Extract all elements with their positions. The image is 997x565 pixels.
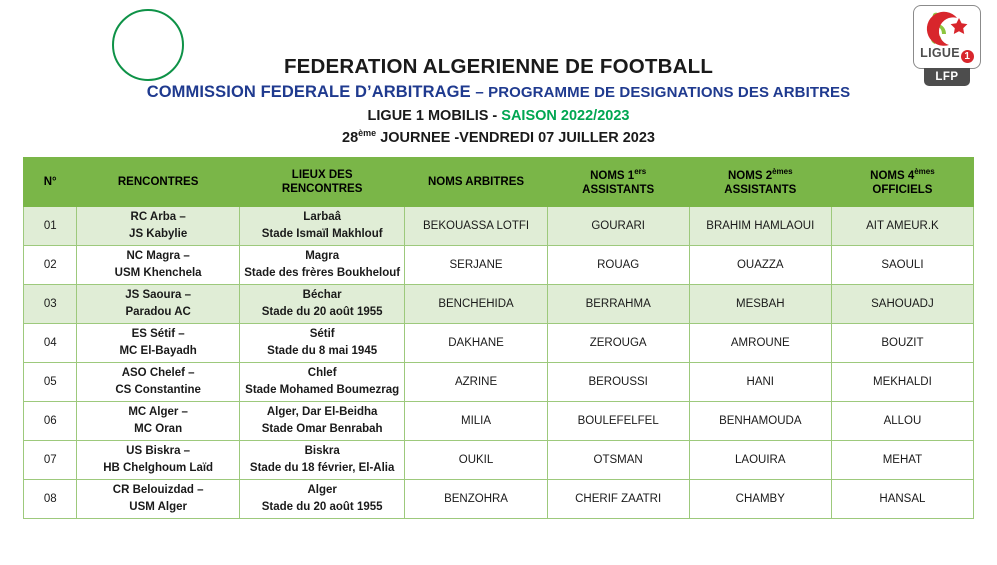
title-block: FEDERATION ALGERIENNE DE FOOTBALL COMMIS… [0,54,997,150]
table-row: 05ASO Chelef –CS ConstantineChlefStade M… [24,363,974,402]
table-header-row: N° RENCONTRES LIEUX DES RENCONTRES NOMS … [24,158,974,207]
cell-venue: MagraStade des frères Boukhelouf [239,246,405,285]
cell-fixture: CR Belouizdad –USM Alger [77,480,239,519]
cell-match-number: 04 [24,324,77,363]
cell-assistant1: BERRAHMA [547,285,689,324]
cell-assistant2: OUAZZA [689,246,831,285]
column-header-assistant2: NOMS 2èmes ASSISTANTS [689,158,831,207]
cell-venue: ChlefStade Mohamed Boumezrag [239,363,405,402]
cell-fixture: NC Magra –USM Khenchela [77,246,239,285]
column-header-assistant2-sup: èmes [772,167,792,176]
column-header-match: RENCONTRES [77,158,239,207]
venue-city: Alger, Dar El-Beidha [242,404,403,421]
cell-referee: AZRINE [405,363,547,402]
fixture-away-team: JS Kabylie [79,226,236,243]
venue-stadium: Stade du 18 février, El-Alia [242,460,403,477]
cell-referee: MILIA [405,402,547,441]
fixture-away-team: HB Chelghoum Laïd [79,460,236,477]
column-header-match-label: RENCONTRES [118,176,199,188]
venue-stadium: Stade Mohamed Boumezrag [242,382,403,399]
cell-venue: BécharStade du 20 août 1955 [239,285,405,324]
cell-match-number: 03 [24,285,77,324]
column-header-official4-label2: OFFICIELS [872,184,932,196]
cell-match-number: 08 [24,480,77,519]
column-header-official4-sup: èmes [914,167,934,176]
venue-stadium: Stade du 20 août 1955 [242,499,403,516]
cell-official4: ALLOU [831,402,973,441]
fixture-home-team: CR Belouizdad – [79,482,236,499]
league-season-line: LIGUE 1 MOBILIS - SAISON 2022/2023 [0,105,997,127]
column-header-venue: LIEUX DES RENCONTRES [239,158,405,207]
designations-table-wrapper: N° RENCONTRES LIEUX DES RENCONTRES NOMS … [23,157,974,519]
fixture-away-team: Paradou AC [79,304,236,321]
column-header-assistant1-sup: ers [634,167,646,176]
cell-venue: LarbaâStade Ismaïl Makhlouf [239,207,405,246]
venue-city: Chlef [242,365,403,382]
cell-fixture: US Biskra –HB Chelghoum Laïd [77,441,239,480]
fixture-home-team: ASO Chelef – [79,365,236,382]
cell-fixture: ASO Chelef –CS Constantine [77,363,239,402]
venue-stadium: Stade Omar Benrabah [242,421,403,438]
cell-fixture: ES Sétif –MC El-Bayadh [77,324,239,363]
fixture-home-team: ES Sétif – [79,326,236,343]
cell-official4: MEKHALDI [831,363,973,402]
season-label: SAISON 2022/2023 [501,108,629,124]
cell-fixture: JS Saoura –Paradou AC [77,285,239,324]
column-header-venue-label: LIEUX DES [292,169,353,181]
cell-venue: SétifStade du 8 mai 1945 [239,324,405,363]
table-row: 08CR Belouizdad –USM AlgerAlgerStade du … [24,480,974,519]
commission-title: COMMISSION FEDERALE D’ARBITRAGE [147,83,471,101]
table-row: 02NC Magra –USM KhenchelaMagraStade des … [24,246,974,285]
cell-assistant1: BOULEFELFEL [547,402,689,441]
table-row: 03JS Saoura –Paradou ACBécharStade du 20… [24,285,974,324]
cell-referee: OUKIL [405,441,547,480]
fixture-away-team: USM Khenchela [79,265,236,282]
cell-assistant1: ROUAG [547,246,689,285]
fixture-away-team: CS Constantine [79,382,236,399]
cell-assistant2: BRAHIM HAMLAOUI [689,207,831,246]
venue-stadium: Stade du 20 août 1955 [242,304,403,321]
venue-stadium: Stade Ismaïl Makhlouf [242,226,403,243]
column-header-official4: NOMS 4èmes OFFICIELS [831,158,973,207]
cell-official4: AIT AMEUR.K [831,207,973,246]
cell-venue: Alger, Dar El-BeidhaStade Omar Benrabah [239,402,405,441]
cell-match-number: 01 [24,207,77,246]
designations-table: N° RENCONTRES LIEUX DES RENCONTRES NOMS … [23,157,974,519]
commission-title-line: COMMISSION FEDERALE D’ARBITRAGE – PROGRA… [0,80,997,105]
federation-title: FEDERATION ALGERIENNE DE FOOTBALL [0,54,997,80]
cell-match-number: 05 [24,363,77,402]
cell-assistant1: GOURARI [547,207,689,246]
cell-fixture: RC Arba –JS Kabylie [77,207,239,246]
venue-city: Magra [242,248,403,265]
cell-referee: BEKOUASSA LOTFI [405,207,547,246]
cell-official4: MEHAT [831,441,973,480]
venue-city: Alger [242,482,403,499]
venue-city: Béchar [242,287,403,304]
cell-assistant1: ZEROUGA [547,324,689,363]
column-header-assistant1-label2: ASSISTANTS [582,184,654,196]
document-header: FAF الجزائر [0,0,997,150]
fixture-away-team: MC El-Bayadh [79,343,236,360]
table-row: 06MC Alger –MC OranAlger, Dar El-BeidhaS… [24,402,974,441]
cell-assistant1: CHERIF ZAATRI [547,480,689,519]
column-header-assistant2-label2: ASSISTANTS [724,184,796,196]
league-label: LIGUE 1 MOBILIS - [368,108,502,124]
venue-city: Sétif [242,326,403,343]
column-header-venue-label2: RENCONTRES [282,183,363,195]
venue-stadium: Stade des frères Boukhelouf [242,265,403,282]
cell-assistant2: CHAMBY [689,480,831,519]
column-header-assistant1: NOMS 1ers ASSISTANTS [547,158,689,207]
fixture-away-team: USM Alger [79,499,236,516]
table-header: N° RENCONTRES LIEUX DES RENCONTRES NOMS … [24,158,974,207]
cell-assistant2: HANI [689,363,831,402]
cell-match-number: 06 [24,402,77,441]
fixture-away-team: MC Oran [79,421,236,438]
cell-referee: BENZOHRA [405,480,547,519]
cell-assistant1: OTSMAN [547,441,689,480]
cell-assistant2: BENHAMOUDA [689,402,831,441]
matchday-line: 28ème JOURNEE -VENDREDI 07 JUILLER 2023 [0,127,997,150]
table-body: 01RC Arba –JS KabylieLarbaâStade Ismaïl … [24,207,974,519]
column-header-referee: NOMS ARBITRES [405,158,547,207]
column-header-no: N° [24,158,77,207]
cell-assistant1: BEROUSSI [547,363,689,402]
cell-referee: SERJANE [405,246,547,285]
venue-stadium: Stade du 8 mai 1945 [242,343,403,360]
fixture-home-team: RC Arba – [79,209,236,226]
venue-city: Larbaâ [242,209,403,226]
matchday-number: 28 [342,130,358,146]
cell-match-number: 07 [24,441,77,480]
cell-referee: BENCHEHIDA [405,285,547,324]
matchday-ordinal: ème [358,128,376,138]
cell-fixture: MC Alger –MC Oran [77,402,239,441]
column-header-official4-label: NOMS 4 [870,170,914,182]
column-header-referee-label: NOMS ARBITRES [428,176,524,188]
table-row: 04ES Sétif –MC El-BayadhSétifStade du 8 … [24,324,974,363]
cell-assistant2: AMROUNE [689,324,831,363]
table-row: 07US Biskra –HB Chelghoum LaïdBiskraStad… [24,441,974,480]
fixture-home-team: JS Saoura – [79,287,236,304]
fixture-home-team: NC Magra – [79,248,236,265]
venue-city: Biskra [242,443,403,460]
cell-assistant2: MESBAH [689,285,831,324]
column-header-assistant1-label: NOMS 1 [590,170,634,182]
cell-match-number: 02 [24,246,77,285]
cell-venue: AlgerStade du 20 août 1955 [239,480,405,519]
cell-official4: SAHOUADJ [831,285,973,324]
cell-venue: BiskraStade du 18 février, El-Alia [239,441,405,480]
cell-official4: HANSAL [831,480,973,519]
cell-referee: DAKHANE [405,324,547,363]
cell-official4: SAOULI [831,246,973,285]
commission-title-suffix: – PROGRAMME DE DESIGNATIONS DES ARBITRES [475,84,850,101]
cell-official4: BOUZIT [831,324,973,363]
matchday-rest: JOURNEE -VENDREDI 07 JUILLER 2023 [376,130,655,146]
fixture-home-team: MC Alger – [79,404,236,421]
fixture-home-team: US Biskra – [79,443,236,460]
cell-assistant2: LAOUIRA [689,441,831,480]
column-header-no-label: N° [44,176,57,188]
column-header-assistant2-label: NOMS 2 [728,170,772,182]
table-row: 01RC Arba –JS KabylieLarbaâStade Ismaïl … [24,207,974,246]
